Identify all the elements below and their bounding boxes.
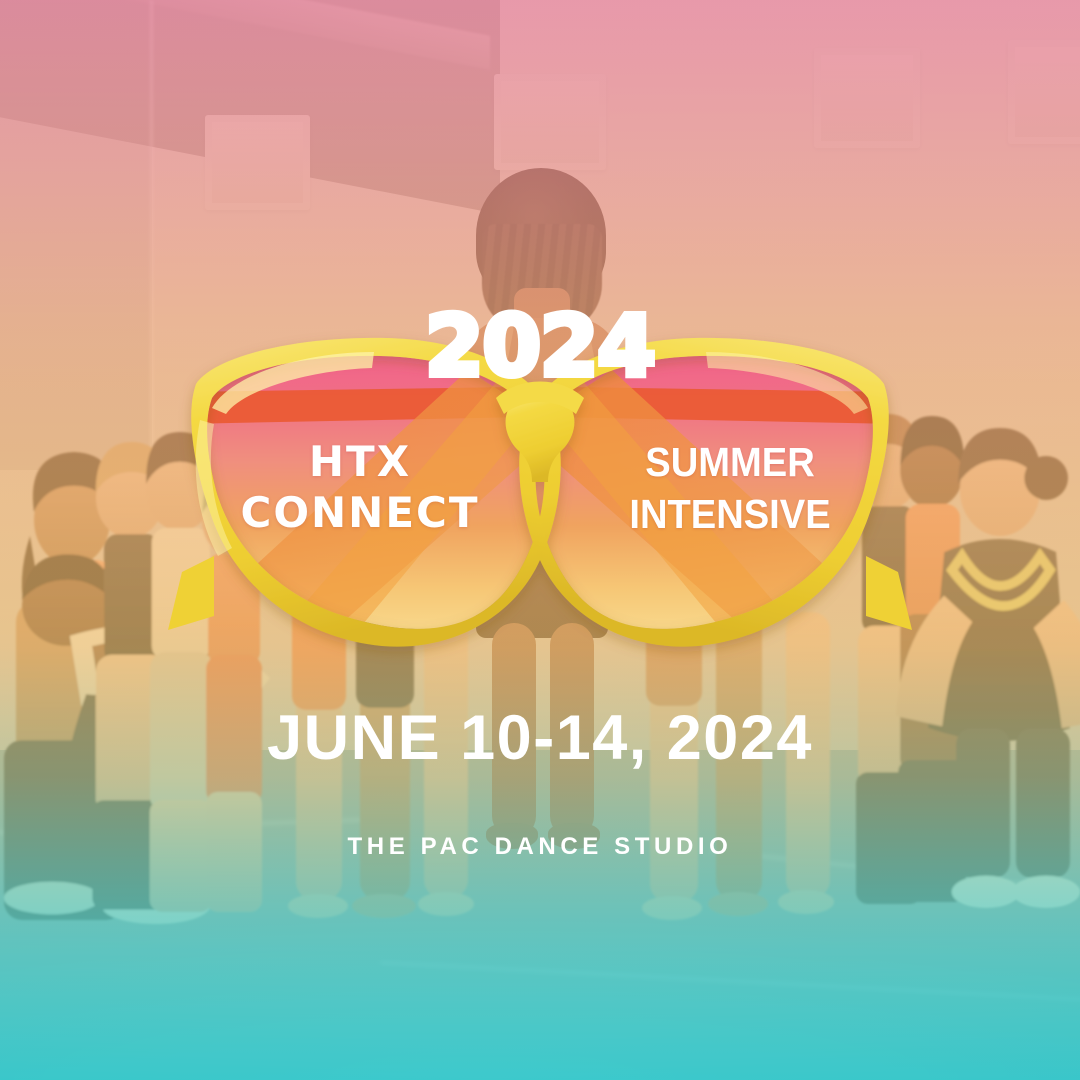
temple-left bbox=[168, 556, 214, 630]
temple-right bbox=[866, 556, 912, 630]
lens-right-line1: SUMMER bbox=[591, 436, 870, 488]
poster-canvas: 2024 HTX CONNECT SUMMER INTENSIVE JUNE 1… bbox=[0, 0, 1080, 1080]
venue-name: THE PAC DANCE STUDIO bbox=[0, 833, 1080, 861]
sunglasses-icon bbox=[0, 0, 1080, 1080]
lens-left-text: HTX CONNECT bbox=[210, 436, 510, 538]
lens-left-line1: HTX bbox=[210, 436, 510, 487]
event-date: JUNE 10-14, 2024 bbox=[0, 702, 1080, 774]
lens-left-line2: CONNECT bbox=[210, 487, 510, 538]
year-heading: 2024 bbox=[0, 307, 1080, 387]
lens-right-line2: INTENSIVE bbox=[591, 488, 870, 540]
lens-right-text: SUMMER INTENSIVE bbox=[591, 436, 870, 541]
